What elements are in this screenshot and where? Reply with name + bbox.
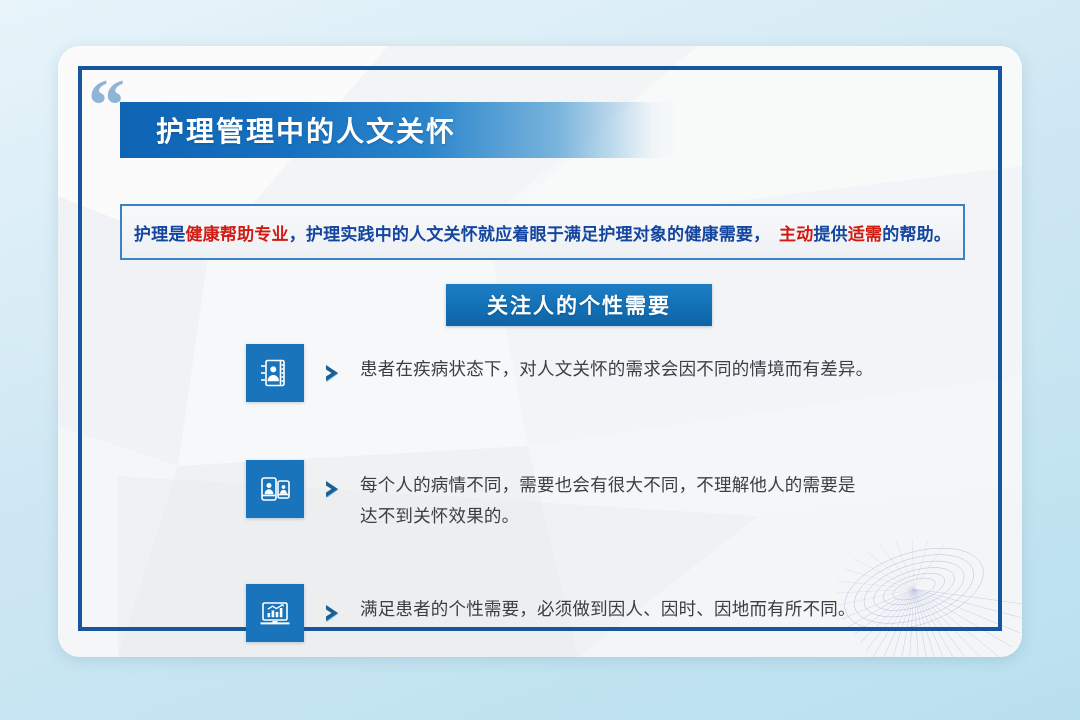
statement-segment: 提供: [813, 225, 847, 244]
list-item-text: 患者在疾病状态下，对人文关怀的需求会因不同的情境而有差异。: [360, 344, 873, 385]
chevron-right-icon: [304, 460, 360, 518]
sub-heading-text: 关注人的个性需要: [487, 290, 671, 320]
statement-segment: 主动: [779, 225, 813, 244]
bullet-list: 患者在疾病状态下，对人文关怀的需求会因不同的情境而有差异。: [78, 344, 1002, 648]
statement-segment: 的帮助。: [882, 225, 951, 244]
list-item-text: 满足患者的个性需要，必须做到因人、因时、因地而有所不同。: [360, 584, 856, 625]
chevron-right-icon: [304, 344, 360, 402]
monitor-bar-chart-icon: [246, 584, 304, 642]
statement-segment: 护理是: [134, 225, 186, 244]
statement-segment: 适需: [848, 225, 882, 244]
statement-segment: 健康帮助专业: [186, 225, 289, 244]
list-item: 每个人的病情不同，需要也会有很大不同，不理解他人的需要是 达不到关怀效果的。: [78, 460, 1002, 532]
list-item-line: 达不到关怀效果的。: [360, 501, 856, 532]
two-id-cards-people-icon: [246, 460, 304, 518]
list-item-text: 每个人的病情不同，需要也会有很大不同，不理解他人的需要是 达不到关怀效果的。: [360, 460, 856, 532]
slide-card: “ 护理管理中的人文关怀 护理是健康帮助专业，护理实践中的人文关怀就应着眼于满足…: [58, 46, 1022, 657]
sub-heading-banner: 关注人的个性需要: [446, 284, 712, 326]
statement-text: 护理是健康帮助专业，护理实践中的人文关怀就应着眼于满足护理对象的健康需要， 主动…: [134, 220, 951, 245]
statement-box: 护理是健康帮助专业，护理实践中的人文关怀就应着眼于满足护理对象的健康需要， 主动…: [120, 204, 965, 260]
statement-segment: ，护理实践中的人文关怀就应着眼于满足护理对象的健康需要，: [289, 225, 779, 244]
page-title: 护理管理中的人文关怀: [120, 110, 456, 150]
title-banner: 护理管理中的人文关怀: [120, 102, 680, 158]
chevron-right-icon: [304, 584, 360, 642]
list-item-line: 患者在疾病状态下，对人文关怀的需求会因不同的情境而有差异。: [360, 354, 873, 385]
address-book-contact-icon: [246, 344, 304, 402]
list-item-line: 满足患者的个性需要，必须做到因人、因时、因地而有所不同。: [360, 594, 856, 625]
list-item-line: 每个人的病情不同，需要也会有很大不同，不理解他人的需要是: [360, 470, 856, 501]
list-item: 患者在疾病状态下，对人文关怀的需求会因不同的情境而有差异。: [78, 344, 1002, 408]
slide-content: “ 护理管理中的人文关怀 护理是健康帮助专业，护理实践中的人文关怀就应着眼于满足…: [78, 66, 1002, 631]
list-item: 满足患者的个性需要，必须做到因人、因时、因地而有所不同。: [78, 584, 1002, 648]
quote-mark-icon: “: [88, 80, 123, 132]
